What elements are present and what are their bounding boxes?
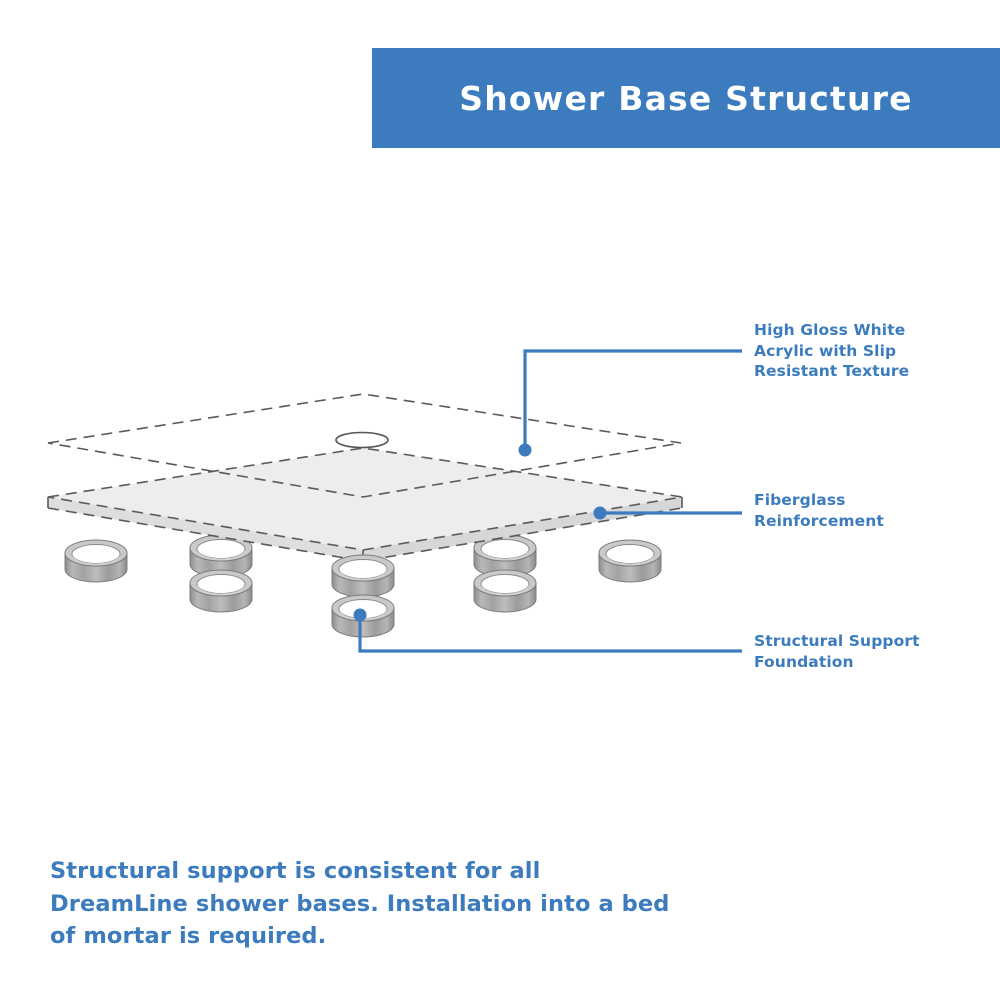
header-banner: Shower Base Structure — [372, 48, 1000, 148]
leader-dot-acrylic — [519, 444, 532, 457]
page-title: Shower Base Structure — [459, 82, 913, 115]
support-ring — [190, 535, 252, 577]
support-ring — [190, 570, 252, 612]
footer-note: Structural support is consistent for all… — [50, 855, 670, 953]
page-canvas: Shower Base Structure — [0, 0, 1000, 1000]
leader-dots — [354, 444, 607, 622]
callout-label-support: Structural Support Foundation — [754, 631, 920, 672]
fiberglass-slab-layer — [48, 448, 682, 561]
support-ring — [474, 570, 536, 612]
leader-dot-support — [354, 609, 367, 622]
acrylic-top-layer — [48, 394, 681, 497]
callout-label-fiberglass: Fiberglass Reinforcement — [754, 490, 884, 531]
leader-line-support — [360, 615, 742, 651]
support-ring — [474, 535, 536, 577]
support-ring-group-front — [65, 540, 661, 637]
support-ring — [599, 540, 661, 582]
drain-hole-icon — [336, 433, 388, 448]
leader-dot-fiberglass — [594, 507, 607, 520]
support-ring — [332, 595, 394, 637]
callout-label-acrylic: High Gloss White Acrylic with Slip Resis… — [754, 320, 909, 382]
support-ring-group-back — [190, 535, 536, 577]
support-ring — [332, 555, 394, 597]
support-ring — [65, 540, 127, 582]
leader-line-acrylic — [525, 351, 742, 450]
leader-lines — [360, 351, 742, 651]
